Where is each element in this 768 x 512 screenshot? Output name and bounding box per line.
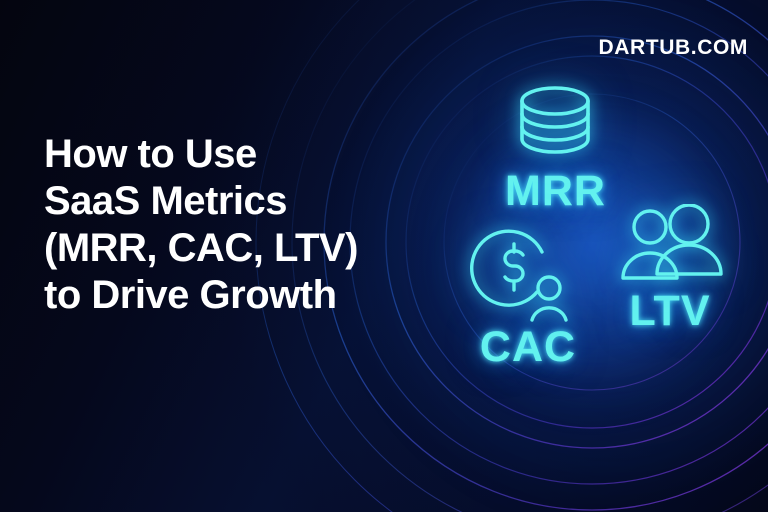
- two-users-icon: [612, 204, 728, 288]
- metric-cac: CAC: [470, 224, 586, 369]
- metric-cac-label: CAC: [480, 326, 576, 369]
- title-line-4: to Drive Growth: [44, 272, 444, 319]
- metric-mrr-label: MRR: [505, 170, 606, 213]
- title-line-3: (MRR, CAC, LTV): [44, 225, 444, 272]
- poster-canvas: DARTUB.COM How to Use SaaS Metrics (MRR,…: [0, 0, 768, 512]
- metric-ltv: LTV: [612, 204, 728, 333]
- page-title: How to Use SaaS Metrics (MRR, CAC, LTV) …: [44, 131, 444, 320]
- database-stack-icon: [505, 84, 605, 164]
- title-line-1: How to Use: [44, 131, 444, 178]
- dollar-circle-person-icon: [470, 224, 586, 324]
- metric-mrr: MRR: [505, 84, 606, 213]
- metric-ltv-label: LTV: [629, 290, 710, 333]
- site-logo[interactable]: DARTUB.COM: [599, 36, 748, 60]
- title-line-2: SaaS Metrics: [44, 178, 444, 225]
